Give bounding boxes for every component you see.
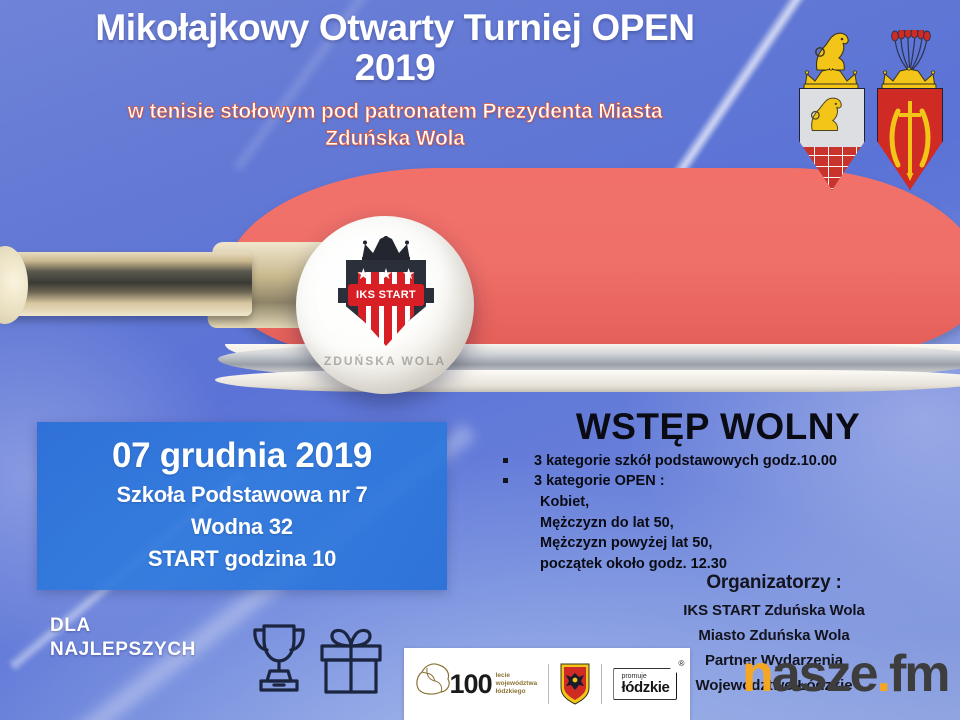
poster-header: Mikołajkowy Otwarty Turniej OPEN 2019 w …	[0, 8, 790, 153]
organizers-heading: Organizatorzy :	[600, 572, 948, 594]
tournament-poster: ★ ★ ★ IKS START ZDUŃSKA WOLA Mikołajkowy…	[0, 0, 960, 720]
hundred-caption-l3: łódzkiego	[496, 688, 526, 695]
paddle-handle	[0, 252, 252, 316]
promuje-lodzkie-logo: promuje łódzkie ®	[613, 655, 684, 713]
club-city-text: ZDUŃSKA WOLA	[296, 354, 474, 368]
crest-stars: ★ ★ ★	[352, 266, 420, 282]
title-line-1: Mikołajkowy Otwarty Turniej OPEN	[0, 8, 790, 48]
list-item: 3 kategorie OPEN :	[499, 471, 949, 492]
star-icon: ★	[357, 267, 370, 282]
promuje-big-text: łódzkie	[621, 680, 669, 696]
organizer-row: IKS START Zduńska Wola	[600, 602, 948, 619]
event-street: Wodna 32	[37, 514, 447, 540]
prizes-label: DLA NAJLEPSZYCH	[50, 614, 196, 662]
nasze-fm-watermark: nasze.fm	[742, 648, 949, 700]
watermark-part-end: fm	[889, 645, 949, 703]
divider	[601, 664, 602, 704]
event-date: 07 grudnia 2019	[37, 436, 447, 476]
organizer-row: Miasto Zduńska Wola	[600, 627, 948, 644]
prizes-label-line-2: NAJLEPSZYCH	[50, 638, 196, 662]
table-tennis-paddle-image	[0, 168, 960, 420]
registered-trademark-icon: ®	[678, 659, 684, 668]
watermark-dot: .	[877, 645, 889, 703]
star-icon: ★	[379, 267, 392, 282]
hundred-caption: lecie województwa łódzkiego	[496, 672, 538, 696]
ping-pong-ball-image: ★ ★ ★ IKS START ZDUŃSKA WOLA	[296, 216, 474, 394]
hundred-caption-l1: lecie	[496, 672, 510, 679]
brick-wall-pattern	[800, 147, 864, 189]
free-entry-block: WSTĘP WOLNY 3 kategorie szkół podstawowy…	[487, 408, 949, 574]
star-icon: ★	[402, 267, 415, 282]
bullet-square-icon	[503, 458, 508, 463]
list-item-label: 3 kategorie szkół podstawowych godz.10.0…	[534, 451, 837, 472]
lodzkie-shield-icon	[560, 663, 590, 705]
event-start-time: START godzina 10	[37, 546, 447, 572]
100-lecie-logo: 100 lecie województwa łódzkiego	[410, 655, 538, 713]
page-subtitle: w tenisie stołowym pod patronatem Prezyd…	[0, 98, 790, 153]
subtitle-line-2: Zduńska Wola	[0, 125, 790, 152]
list-item: Mężczyzn powyżej lat 50,	[499, 533, 949, 554]
divider	[548, 664, 549, 704]
crest-ribbon-label: IKS START	[348, 284, 424, 306]
crown-icon	[360, 236, 412, 262]
powiat-coat-of-arms-icon	[873, 24, 945, 194]
subtitle-line-1: w tenisie stołowym pod patronatem Prezyd…	[0, 98, 790, 125]
bullet-square-icon	[503, 478, 508, 483]
crown-icon	[881, 68, 937, 90]
list-item: Kobiet,	[499, 492, 949, 513]
page-title: Mikołajkowy Otwarty Turniej OPEN 2019	[0, 8, 790, 88]
list-item: Mężczyzn do lat 50,	[499, 513, 949, 534]
coats-of-arms	[795, 24, 947, 196]
watermark-part-mid: asze	[772, 645, 877, 703]
list-item-label: 3 kategorie OPEN :	[534, 471, 665, 492]
lion-icon	[804, 91, 854, 135]
prize-icons	[248, 616, 388, 696]
sword-and-crescents-icon	[878, 89, 942, 189]
lodzkie-coat-of-arms	[560, 655, 590, 713]
watermark-part-n: n	[742, 645, 772, 703]
crown-icon	[803, 68, 859, 90]
prizes-label-line-1: DLA	[50, 614, 196, 638]
shield-silver-with-lion	[799, 88, 865, 190]
category-list: 3 kategorie szkół podstawowych godz.10.0…	[487, 451, 949, 574]
paddle-edge-lower	[215, 370, 960, 392]
gift-icon	[318, 624, 384, 696]
shield-red-with-sword	[877, 88, 943, 190]
sponsor-logo-strip: 100 lecie województwa łódzkiego promuje …	[404, 648, 690, 720]
zdunska-wola-coat-of-arms-icon	[795, 24, 867, 194]
free-entry-heading: WSTĘP WOLNY	[487, 408, 949, 447]
title-line-2: 2019	[0, 48, 790, 88]
hundred-number: 100	[450, 673, 492, 696]
event-venue: Szkoła Podstawowa nr 7	[37, 482, 447, 508]
iks-start-crest-icon: ★ ★ ★ IKS START	[338, 236, 434, 356]
trophy-icon	[248, 620, 310, 696]
event-details-box: 07 grudnia 2019 Szkoła Podstawowa nr 7 W…	[37, 422, 447, 590]
list-item: 3 kategorie szkół podstawowych godz.10.0…	[499, 451, 949, 472]
club-name: IKS START	[356, 289, 416, 301]
hundred-caption-l2: województwa	[496, 680, 538, 687]
100-lecie-text: 100 lecie województwa łódzkiego	[450, 672, 538, 696]
